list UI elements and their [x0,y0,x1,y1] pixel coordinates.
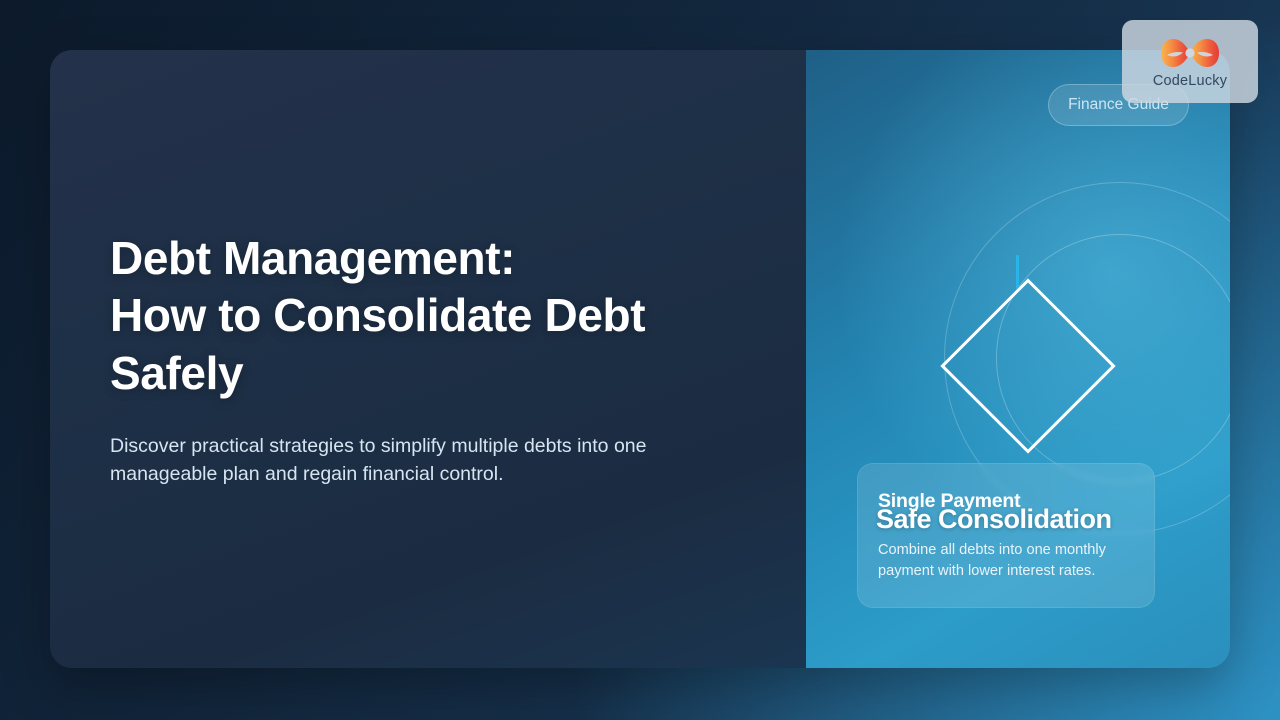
watermark-logo: CodeLucky [1122,20,1258,103]
vertical-connector-icon [1016,255,1019,289]
diamond-outline-icon [940,278,1115,453]
infinity-logo-icon [1158,35,1222,71]
info-card-description: Combine all debts into one monthly payme… [878,540,1146,582]
watermark-brand-label: CodeLucky [1153,73,1227,89]
page-subtitle: Discover practical strategies to simplif… [110,433,670,488]
info-card-title: Safe Consolidation [876,504,1112,535]
right-visual-pane: Single Payment Safe Consolidation Combin… [806,50,1230,668]
info-card: Single Payment Safe Consolidation Combin… [857,463,1155,608]
slide-card: Debt Management: How to Consolidate Debt… [50,50,1230,668]
page-title: Debt Management: How to Consolidate Debt… [110,230,746,403]
left-content-pane: Debt Management: How to Consolidate Debt… [50,50,806,668]
